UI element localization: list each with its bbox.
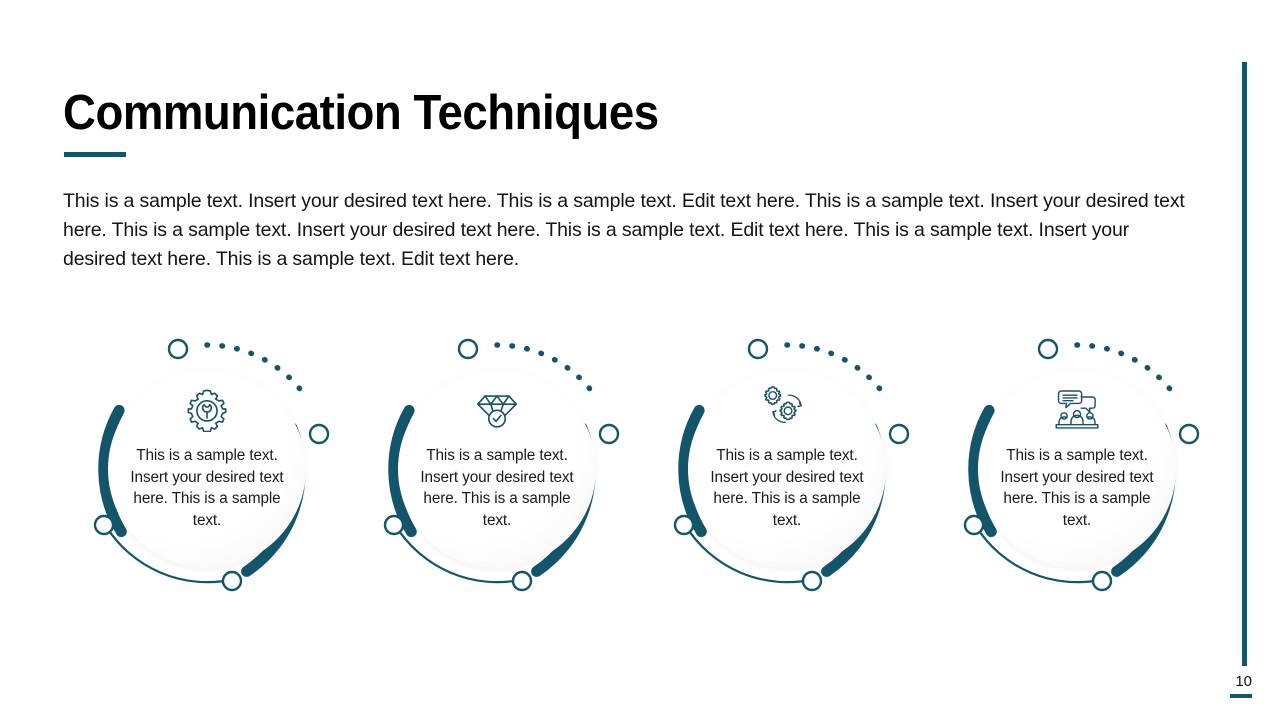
ring-marker-bottom	[513, 572, 531, 590]
circle-items-row: This is a sample text. Insert your desir…	[0, 335, 1280, 600]
ring-marker-top	[459, 340, 477, 358]
team-meeting-icon	[978, 379, 1176, 439]
page-number: 10	[1212, 673, 1252, 690]
circle-item-3[interactable]: This is a sample text. Insert your desir…	[657, 335, 917, 600]
page-number-underline	[1230, 694, 1252, 698]
right-edge-accent-bar	[1242, 62, 1247, 666]
gear-wrench-icon	[108, 379, 306, 439]
circle-item-1[interactable]: This is a sample text. Insert your desir…	[77, 335, 337, 600]
ring-marker-right	[1180, 425, 1198, 443]
ring-marker-right	[310, 425, 328, 443]
title-underline-accent	[64, 152, 126, 157]
ring-marker-left	[95, 516, 113, 534]
item-text-3: This is a sample text. Insert your desir…	[698, 445, 876, 531]
ring-marker-bottom	[1093, 572, 1111, 590]
ring-marker-right	[600, 425, 618, 443]
ring-marker-right	[890, 425, 908, 443]
ring-marker-top	[1039, 340, 1057, 358]
page-title: Communication Techniques	[63, 88, 659, 139]
ring-marker-top	[749, 340, 767, 358]
ring-marker-top	[169, 340, 187, 358]
item-text-2: This is a sample text. Insert your desir…	[408, 445, 586, 531]
circle-item-4[interactable]: This is a sample text. Insert your desir…	[947, 335, 1207, 600]
two-gears-icon	[688, 379, 886, 439]
ring-marker-left	[965, 516, 983, 534]
slide-canvas: Communication Techniques This is a sampl…	[0, 0, 1280, 720]
body-paragraph: This is a sample text. Insert your desir…	[63, 187, 1189, 274]
ring-marker-left	[675, 516, 693, 534]
item-text-1: This is a sample text. Insert your desir…	[118, 445, 296, 531]
ring-marker-left	[385, 516, 403, 534]
diamond-check-icon	[398, 379, 596, 439]
circle-item-2[interactable]: This is a sample text. Insert your desir…	[367, 335, 627, 600]
ring-marker-bottom	[803, 572, 821, 590]
ring-marker-bottom	[223, 572, 241, 590]
item-text-4: This is a sample text. Insert your desir…	[988, 445, 1166, 531]
